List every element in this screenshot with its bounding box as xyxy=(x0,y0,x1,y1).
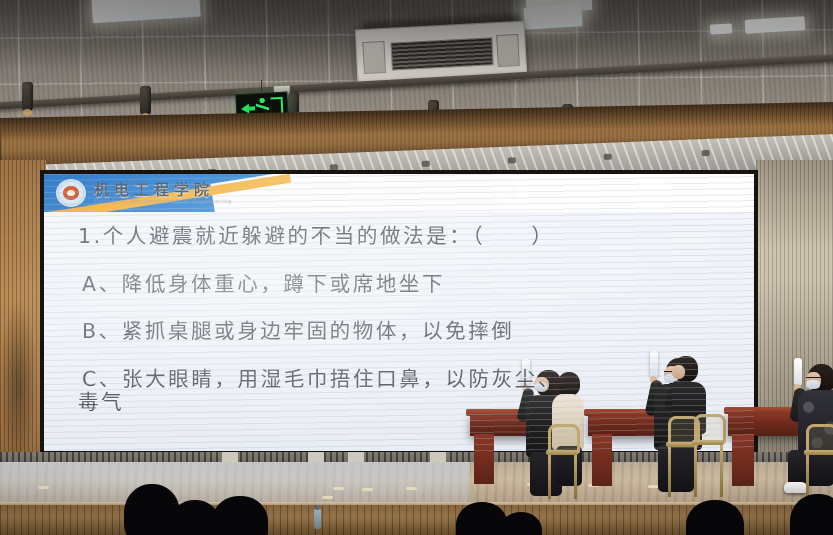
legs-5 xyxy=(788,450,833,486)
slide-question-line: 1.个人避震就近躲避的不当的做法是：（ ） xyxy=(78,226,730,248)
projection-screen: 机电工程学院 College of Electromechanical Engi… xyxy=(44,174,754,451)
track-light-1 xyxy=(22,82,33,112)
slide-brand-en: College of Electromechanical Engineering xyxy=(94,199,232,205)
chair-leg-4a xyxy=(806,455,809,501)
logo-core xyxy=(63,186,79,200)
confetti-5 xyxy=(322,496,333,499)
valance-fixture-6 xyxy=(604,154,612,160)
shoe-5 xyxy=(784,482,808,493)
auditorium-photo-scene: EXIT 机电工程学院 College of Electromechanical… xyxy=(0,0,833,535)
audience-head-3 xyxy=(212,496,268,535)
valance-fixture-5 xyxy=(508,157,516,163)
confetti-1 xyxy=(38,486,49,489)
slide-option-c-wrap: 毒气 xyxy=(78,392,730,414)
projection-screen-frame: 机电工程学院 College of Electromechanical Engi… xyxy=(40,170,758,455)
face-mask-5 xyxy=(806,380,820,389)
chair-leg-2a xyxy=(668,447,671,497)
confetti-3 xyxy=(362,488,373,491)
track-light-2 xyxy=(140,86,151,116)
confetti-2 xyxy=(333,487,344,490)
valance-fixture-4 xyxy=(422,161,430,167)
chair-leg-1b xyxy=(574,455,577,499)
slide-body: 1.个人避震就近躲避的不当的做法是：（ ） A、降低身体重心，蹲下或席地坐下 B… xyxy=(44,212,754,451)
confetti-4 xyxy=(406,487,417,490)
slide-option-a: A、降低身体重心，蹲下或席地坐下 xyxy=(82,274,730,296)
chair-leg-3b xyxy=(720,445,723,497)
water-bottle xyxy=(314,509,321,529)
legs-3 xyxy=(658,444,694,492)
slide-option-c: C、张大眼睛，用湿毛巾捂住口鼻，以防灰尘、 xyxy=(82,369,730,391)
answer-paddle-5 xyxy=(794,358,802,386)
slide-brand-cn: 机电工程学院 xyxy=(94,179,214,200)
chair-leg-1a xyxy=(548,455,551,499)
chair-leg-3a xyxy=(694,445,697,497)
valance-fixture-7 xyxy=(702,150,710,156)
university-seal-logo-icon xyxy=(56,179,86,207)
slide-option-b: B、紧抓桌腿或身边牢固的物体，以免摔倒 xyxy=(82,321,730,343)
